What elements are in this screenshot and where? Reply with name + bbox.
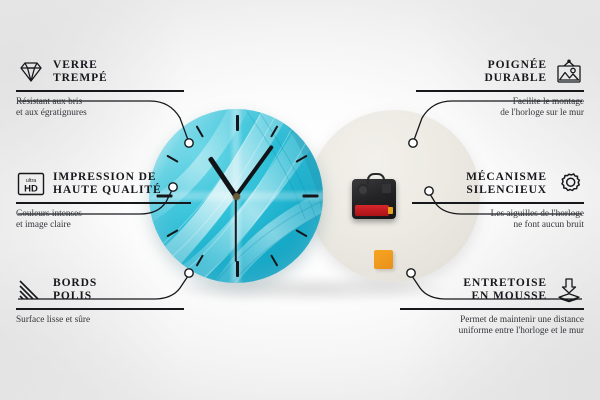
mechanism-hanger (367, 173, 385, 184)
feature-desc-line1: Permet de maintenir une distance (400, 315, 584, 327)
feature-desc-line2: uniforme entre l'horloge et le mur (400, 326, 584, 338)
feature-desc-line1: Surface lisse et sûre (16, 315, 184, 327)
feature-header: VERRE TREMPÉ (16, 58, 184, 85)
feature-header: MÉCANISME SILENCIEUX (412, 170, 584, 197)
feature-header: ENTRETOISE EN MOUSSE (400, 276, 584, 303)
gear-icon (554, 170, 584, 197)
feature-desc-line1: Facilite le montage (416, 97, 584, 109)
feature-poignee-durable[interactable]: POIGNÉE DURABLE Facilite le montage de l… (416, 58, 584, 120)
feature-title: ENTRETOISE EN MOUSSE (463, 277, 547, 303)
feature-title: VERRE TREMPÉ (53, 59, 108, 85)
feature-title: MÉCANISME SILENCIEUX (466, 171, 547, 197)
divider (16, 308, 184, 310)
divider (16, 90, 184, 92)
mechanism-block (382, 184, 391, 193)
feature-title: POIGNÉE DURABLE (484, 59, 547, 85)
divider (400, 308, 584, 310)
foam-spacer (374, 250, 393, 269)
feature-desc-line2: et image claire (16, 220, 191, 232)
infographic-canvas: VERRE TREMPÉ Résistant aux bris et aux é… (0, 0, 600, 400)
polished-edge-icon (16, 276, 46, 303)
feature-desc-line2: de l'horloge sur le mur (416, 108, 584, 120)
feature-title: IMPRESSION DE HAUTE QUALITÉ (53, 171, 162, 197)
mechanism-dial (357, 184, 369, 196)
feature-header: ultra HD IMPRESSION DE HAUTE QUALITÉ (16, 170, 191, 197)
clock-mechanism (352, 179, 396, 219)
feature-desc-line1: Les aiguilles de l'horloge (412, 209, 584, 221)
feature-desc-line1: Couleurs intenses (16, 209, 191, 221)
feature-impression-haute-qualite[interactable]: ultra HD IMPRESSION DE HAUTE QUALITÉ Cou… (16, 170, 191, 232)
feature-header: POIGNÉE DURABLE (416, 58, 584, 85)
feature-bords-polis[interactable]: BORDS POLIS Surface lisse et sûre (16, 276, 184, 326)
feature-title: BORDS POLIS (53, 277, 97, 303)
divider (416, 90, 584, 92)
svg-text:HD: HD (24, 183, 38, 194)
feature-entretoise-en-mousse[interactable]: ENTRETOISE EN MOUSSE Permet de maintenir… (400, 276, 584, 338)
second-hand (235, 196, 237, 262)
press-down-layers-icon (554, 276, 584, 303)
feature-desc-line2: et aux égratignures (16, 108, 184, 120)
feature-header: BORDS POLIS (16, 276, 184, 303)
ultra-hd-icon: ultra HD (16, 170, 46, 197)
divider (412, 202, 584, 204)
picture-hanger-icon (554, 58, 584, 85)
diamond-icon (16, 58, 46, 85)
divider (16, 202, 191, 204)
feature-mecanisme-silencieux[interactable]: MÉCANISME SILENCIEUX Les aiguilles de l'… (412, 170, 584, 232)
battery (355, 205, 389, 216)
feature-verre-trempe[interactable]: VERRE TREMPÉ Résistant aux bris et aux é… (16, 58, 184, 120)
clock-hub (233, 193, 240, 200)
feature-desc-line2: ne font aucun bruit (412, 220, 584, 232)
feature-desc-line1: Résistant aux bris (16, 97, 184, 109)
